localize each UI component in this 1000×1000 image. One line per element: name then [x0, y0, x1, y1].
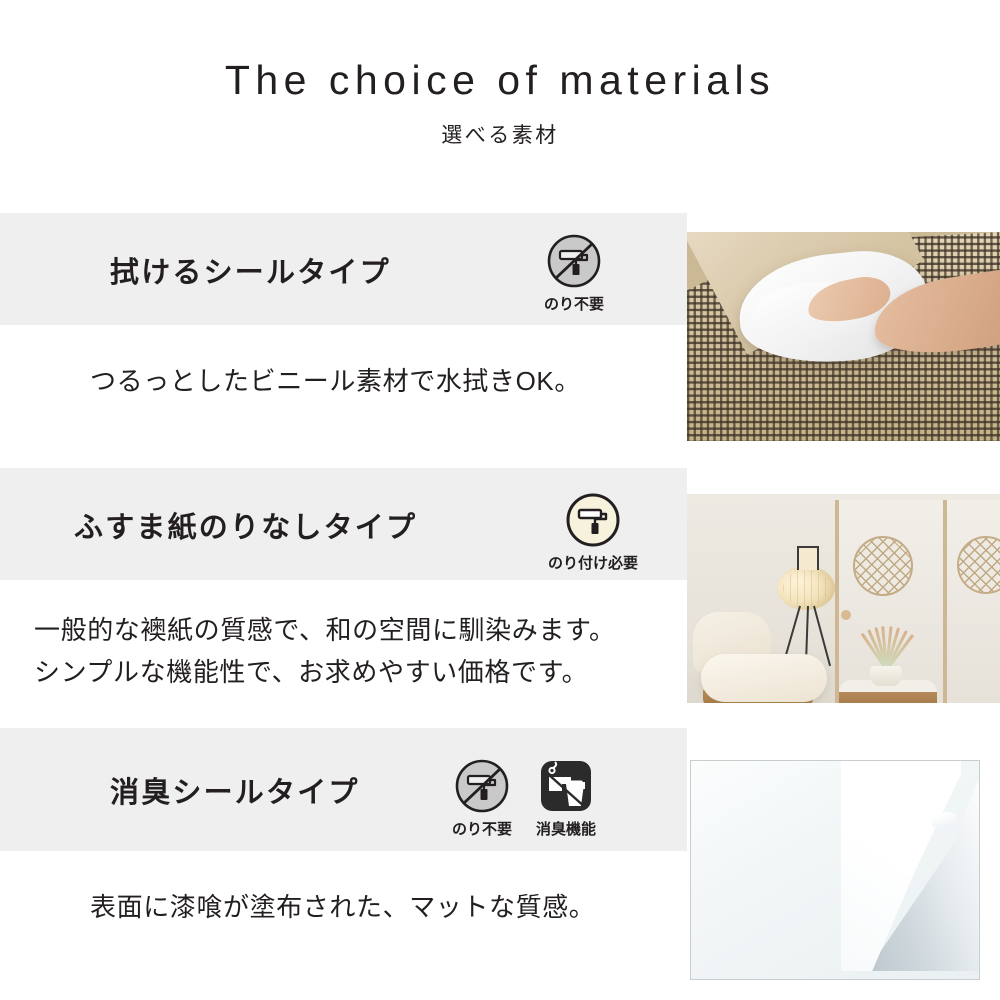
japanese-interior-photo: [687, 494, 1000, 703]
lamp-frame: [797, 546, 819, 570]
lattice-window-icon: [853, 536, 913, 596]
section-title: ふすま紙のりなしタイプ: [74, 504, 417, 546]
material-section-fusuma-paper-no-glue-type: ふすま紙のりなしタイプ のり付け必要 一般的な襖紙の質感で、和の空間に馴染みます…: [0, 468, 1000, 723]
lattice-window-icon: [957, 536, 1000, 594]
badge-group: のり不要: [540, 233, 608, 314]
white-sheet-curled-photo: [690, 760, 980, 980]
page-title: The choice of materials: [225, 56, 775, 105]
pampas-grass: [855, 616, 919, 670]
badge-label: のり不要: [452, 818, 512, 839]
material-section-deodorizing-seal-type: 消臭シールタイプ のり不要: [0, 723, 1000, 1000]
deodorize-trash-icon: [538, 758, 594, 814]
section-title: 拭けるシールタイプ: [110, 249, 391, 291]
section-description: つるっとしたビニール素材で水拭きOK。: [90, 362, 581, 400]
paint-roller-prohibited-icon: [546, 233, 602, 289]
badge-no-glue: のり不要: [540, 233, 608, 314]
paper-lantern-lamp: [777, 566, 835, 610]
badge-label: 消臭機能: [536, 818, 596, 839]
page-subtitle: 選べる素材: [441, 119, 559, 149]
badge-label: のり付け必要: [548, 552, 638, 573]
badge-no-glue: のり不要: [448, 758, 516, 839]
armchair-seat: [701, 654, 827, 702]
wall-knob: [841, 610, 851, 620]
section-description: シンプルな機能性で、お求めやすい価格です。: [34, 653, 588, 691]
badge-group: のり不要 消臭機能: [448, 758, 600, 839]
section-description: 一般的な襖紙の質感で、和の空間に馴染みます。: [34, 611, 616, 649]
badge-group: のり付け必要: [534, 492, 652, 573]
badge-label: のり不要: [544, 293, 604, 314]
section-title: 消臭シールタイプ: [110, 769, 360, 811]
badge-deodorizing: 消臭機能: [532, 758, 600, 839]
paint-roller-prohibited-icon: [454, 758, 510, 814]
section-description: 表面に漆喰が塗布された、マットな質感。: [90, 888, 595, 926]
fusuma-panel: [943, 500, 1000, 703]
page-header: The choice of materials 選べる素材: [0, 0, 1000, 213]
badge-glue-required: のり付け必要: [534, 492, 652, 573]
paint-roller-icon: [565, 492, 621, 548]
towel-wiping-rattan-photo: [687, 232, 1000, 441]
material-section-wipeable-seal-type: 拭けるシールタイプ のり不要 つるっとしたビニール素材で水拭きOK。: [0, 213, 1000, 468]
plant-pot: [870, 666, 902, 686]
